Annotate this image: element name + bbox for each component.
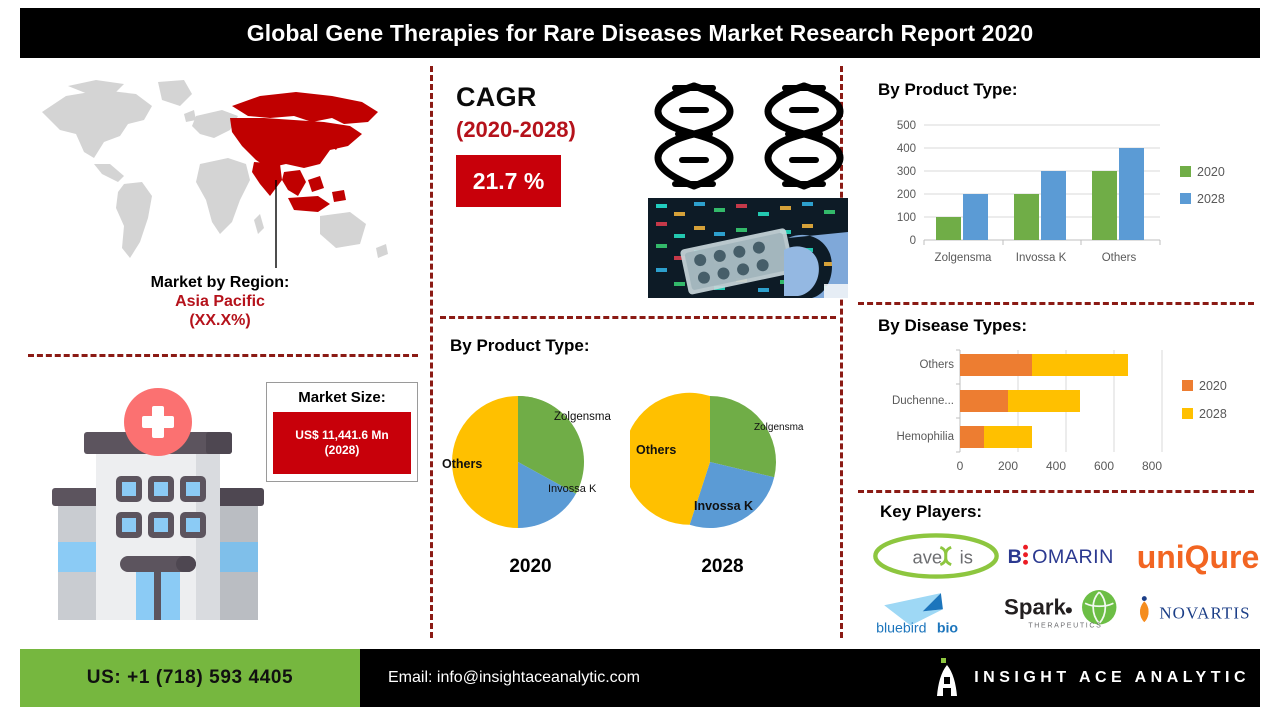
svg-text:OMARIN: OMARIN	[1032, 546, 1114, 568]
right-column: By Product Type: 500 400 300 200 100 0	[846, 66, 1260, 638]
pie-label-zolgensma-2028: Zolgensma	[754, 422, 804, 433]
cagr-label: CAGR	[456, 82, 641, 113]
svg-text:ave: ave	[912, 546, 942, 567]
map-caption-share: (XX.X%)	[20, 312, 420, 330]
bar-2020-invossa	[1014, 194, 1039, 240]
bar-section-title: By Product Type:	[878, 80, 1260, 100]
right-section-divider-1	[858, 302, 1254, 305]
svg-text:B: B	[1007, 546, 1022, 568]
market-size-card: Market Size: US$ 11,441.6 Mn (2028)	[266, 382, 418, 482]
report-title-banner: Global Gene Therapies for Rare Diseases …	[20, 8, 1260, 58]
disease-xtick-0: 0	[957, 459, 964, 473]
content-area: Market by Region: Asia Pacific (XX.X%)	[20, 66, 1260, 641]
product-type-bar-chart: 500 400 300 200 100 0	[870, 110, 1260, 285]
key-players-grid: ave is B	[870, 528, 1265, 638]
svg-text:bluebird: bluebird	[876, 621, 926, 636]
product-type-bar-section: By Product Type: 500 400 300 200 100 0	[870, 80, 1260, 285]
hospital-icon	[48, 384, 268, 632]
disease-types-bar-chart: Others Duchenne... Hemophilia	[870, 344, 1260, 484]
bar-xtick-others: Others	[1102, 252, 1137, 264]
bar-ytick-400: 400	[897, 143, 916, 155]
market-size-title: Market Size:	[273, 389, 411, 406]
footer-contact-block: Email: info@insightaceanalytic.com INSIG…	[360, 649, 1260, 707]
pie-label-others-2028: Others	[636, 443, 676, 457]
brand-name: INSIGHT ACE ANALYTIC	[974, 669, 1250, 687]
laboratory-photo	[648, 198, 848, 298]
footer-phone-block[interactable]: US: +1 (718) 593 4405	[20, 649, 360, 707]
bar-ytick-0: 0	[910, 235, 916, 247]
logo-biomarin: B OMARIN	[1002, 530, 1134, 582]
disease-ytick-hemophilia: Hemophilia	[896, 431, 954, 443]
disease-legend-label-2020: 2020	[1199, 379, 1227, 393]
pie-section-title: By Product Type:	[450, 336, 589, 356]
bar-legend-swatch-2020	[1180, 166, 1191, 177]
disease-bar-2028-hemophilia	[984, 426, 1032, 448]
svg-text:is: is	[960, 546, 973, 567]
pie-label-zolgensma-2020: Zolgensma	[554, 411, 611, 423]
asia-pacific-highlight	[230, 92, 378, 212]
pie-label-others-2020: Others	[442, 457, 482, 471]
svg-text:Spark: Spark	[1004, 595, 1066, 620]
svg-text:bio: bio	[937, 621, 959, 636]
logo-spark-therapeutics: Spark THERAPEUTICS	[1002, 585, 1134, 637]
cagr-block: CAGR (2020-2028) 21.7 %	[456, 82, 641, 207]
disease-xtick-800: 800	[1142, 459, 1162, 473]
disease-xtick-600: 600	[1094, 459, 1114, 473]
disease-types-section: By Disease Types: Others Duchenne... Hem…	[870, 316, 1260, 481]
pie-label-invossa-2028: Invossa K	[694, 499, 753, 513]
pie-year-2028: 2028	[630, 556, 815, 578]
svg-text:uniQure: uniQure	[1137, 539, 1260, 575]
footer-phone-text: US: +1 (718) 593 4405	[87, 667, 293, 689]
insight-ace-logo-icon	[934, 658, 960, 698]
bar-2028-others	[1119, 148, 1144, 240]
market-size-year: (2028)	[325, 443, 360, 458]
disease-legend-swatch-2020	[1182, 380, 1193, 391]
bar-xtick-invossa: Invossa K	[1016, 252, 1067, 264]
key-players-title: Key Players:	[880, 502, 1265, 522]
pie-chart-2020: Zolgensma Invossa K Others 2020	[438, 382, 623, 582]
bar-2028-zolgensma	[963, 194, 988, 240]
dna-helix-icon	[646, 76, 846, 196]
map-caption-region: Asia Pacific	[20, 293, 420, 311]
bar-ytick-200: 200	[897, 189, 916, 201]
disease-bar-2020-hemophilia	[960, 426, 984, 448]
left-section-divider	[28, 354, 418, 357]
disease-bar-2028-duchenne	[1008, 390, 1080, 412]
map-caption-title: Market by Region:	[20, 274, 420, 292]
disease-xtick-400: 400	[1046, 459, 1066, 473]
bar-ytick-500: 500	[897, 120, 916, 132]
map-caption: Market by Region: Asia Pacific (XX.X%)	[20, 274, 420, 330]
page-title: Global Gene Therapies for Rare Diseases …	[247, 20, 1034, 47]
disease-section-title: By Disease Types:	[878, 316, 1260, 336]
bar-legend-swatch-2028	[1180, 193, 1191, 204]
bar-ytick-300: 300	[897, 166, 916, 178]
disease-legend-label-2028: 2028	[1199, 407, 1227, 421]
footer-bar: US: +1 (718) 593 4405 Email: info@insigh…	[20, 649, 1260, 707]
logo-avexis: ave is	[870, 530, 1002, 582]
left-column: Market by Region: Asia Pacific (XX.X%)	[20, 66, 428, 638]
key-players-section: Key Players: ave is	[870, 502, 1265, 638]
cagr-period: (2020-2028)	[456, 117, 641, 143]
world-map	[32, 72, 412, 272]
bar-2020-others	[1092, 171, 1117, 240]
infographic-page: Global Gene Therapies for Rare Diseases …	[0, 0, 1280, 720]
brand-lockup: INSIGHT ACE ANALYTIC	[934, 658, 1250, 698]
footer-email-text[interactable]: Email: info@insightaceanalytic.com	[388, 669, 640, 687]
logo-uniqure: uniQure	[1133, 530, 1265, 582]
disease-legend-swatch-2028	[1182, 408, 1193, 419]
disease-xtick-200: 200	[998, 459, 1018, 473]
bar-legend-label-2020: 2020	[1197, 165, 1225, 179]
disease-bar-2020-others	[960, 354, 1032, 376]
column-divider-left	[430, 66, 433, 638]
disease-ytick-others: Others	[919, 359, 954, 371]
pie-label-invossa-2020: Invossa K	[548, 483, 597, 495]
bar-legend-label-2028: 2028	[1197, 192, 1225, 206]
cagr-value-box: 21.7 %	[456, 155, 561, 207]
logo-novartis: NOVARTIS	[1133, 585, 1265, 637]
bar-2020-zolgensma	[936, 217, 961, 240]
logo-bluebirdbio: bluebird bio	[870, 585, 1002, 637]
right-section-divider-2	[858, 490, 1254, 493]
market-size-amount: US$ 11,441.6 Mn	[295, 428, 388, 443]
cagr-value: 21.7 %	[473, 168, 545, 195]
bar-ytick-100: 100	[897, 212, 916, 224]
bar-xtick-zolgensma: Zolgensma	[935, 252, 992, 264]
bar-2028-invossa	[1041, 171, 1066, 240]
middle-column: CAGR (2020-2028) 21.7 %	[434, 66, 838, 638]
svg-text:THERAPEUTICS: THERAPEUTICS	[1028, 622, 1102, 630]
market-size-value-box: US$ 11,441.6 Mn (2028)	[273, 412, 411, 474]
svg-text:NOVARTIS: NOVARTIS	[1160, 603, 1251, 622]
disease-ytick-duchenne: Duchenne...	[892, 395, 954, 407]
pie-chart-2028: Zolgensma Invossa K Others 2028	[630, 382, 815, 582]
disease-bar-2028-others	[1032, 354, 1128, 376]
disease-bar-2020-duchenne	[960, 390, 1008, 412]
pie-year-2020: 2020	[438, 556, 623, 578]
middle-section-divider	[440, 316, 836, 319]
